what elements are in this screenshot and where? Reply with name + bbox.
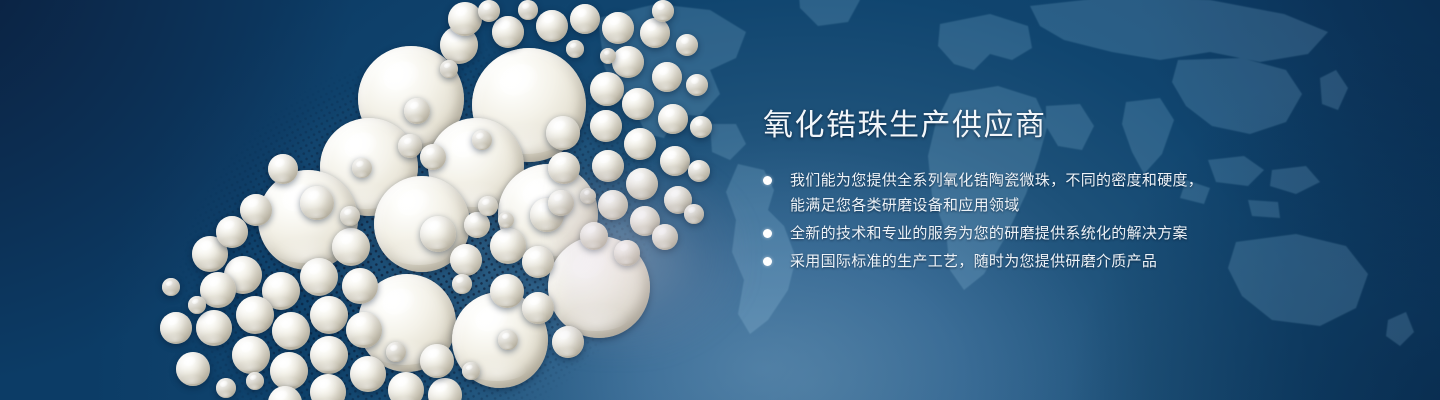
bullet-dot-icon	[763, 176, 772, 185]
feature-list: 我们能为您提供全系列氧化锆陶瓷微珠，不同的密度和硬度， 能满足您各类研磨设备和应…	[763, 168, 1283, 274]
banner-copy: 氧化锆珠生产供应商 我们能为您提供全系列氧化锆陶瓷微珠，不同的密度和硬度， 能满…	[763, 106, 1283, 277]
list-item-line-1: 我们能为您提供全系列氧化锆陶瓷微珠，不同的密度和硬度，	[790, 168, 1283, 193]
list-item: 采用国际标准的生产工艺，随时为您提供研磨介质产品	[763, 249, 1283, 274]
list-item-line-2: 能满足您各类研磨设备和应用领域	[790, 193, 1283, 218]
bullet-dot-icon	[763, 257, 772, 266]
hero-banner: 氧化锆珠生产供应商 我们能为您提供全系列氧化锆陶瓷微珠，不同的密度和硬度， 能满…	[0, 0, 1440, 400]
list-item: 我们能为您提供全系列氧化锆陶瓷微珠，不同的密度和硬度， 能满足您各类研磨设备和应…	[763, 168, 1283, 218]
list-item: 全新的技术和专业的服务为您的研磨提供系统化的解决方案	[763, 221, 1283, 246]
zirconia-beads-photo	[0, 0, 760, 400]
bullet-dot-icon	[763, 229, 772, 238]
list-item-line-1: 采用国际标准的生产工艺，随时为您提供研磨介质产品	[790, 249, 1283, 274]
page-title: 氧化锆珠生产供应商	[763, 106, 1283, 146]
list-item-line-1: 全新的技术和专业的服务为您的研磨提供系统化的解决方案	[790, 221, 1283, 246]
